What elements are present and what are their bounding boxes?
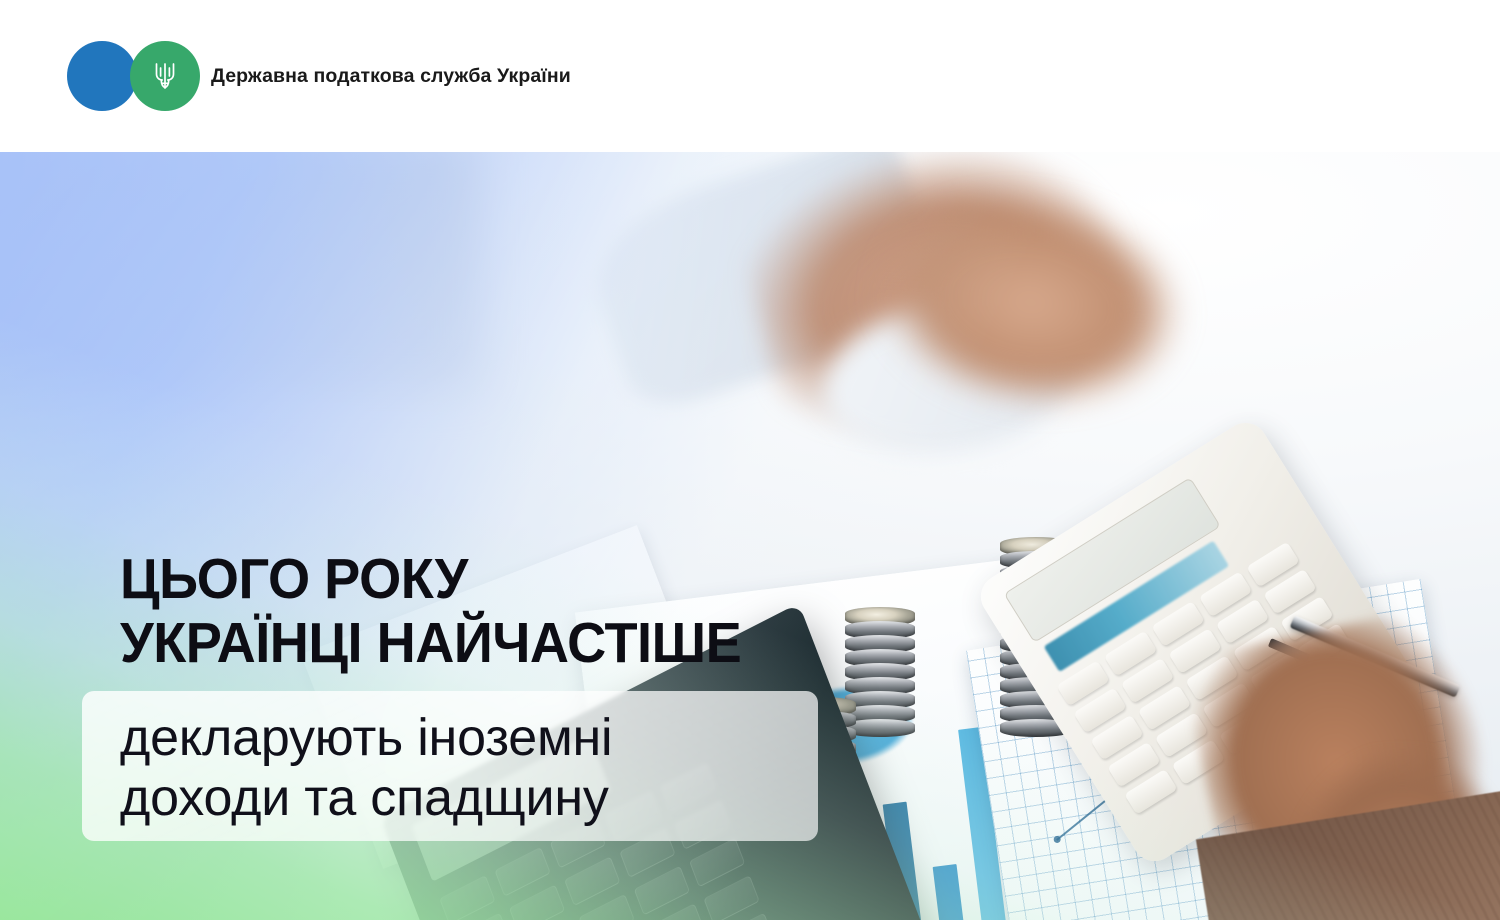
logo-marks bbox=[67, 41, 200, 111]
green-circle-icon bbox=[130, 41, 200, 111]
ukraine-trident-icon bbox=[152, 59, 178, 93]
photo-wall-slab bbox=[0, 152, 480, 392]
logo-text: Державна податкова служба України bbox=[211, 64, 571, 89]
blue-circle-icon bbox=[67, 41, 137, 111]
photo-hand-far-2 bbox=[864, 170, 1226, 463]
banner-subtitle: декларують іноземні доходи та спадщину bbox=[120, 708, 612, 828]
site-header: Державна податкова служба України bbox=[0, 0, 1500, 152]
hero-banner: ЦЬОГО РОКУ УКРАЇНЦІ НАЙЧАСТІШЕ декларуют… bbox=[0, 152, 1500, 920]
organization-logo[interactable]: Державна податкова служба України bbox=[67, 41, 571, 111]
banner-headline: ЦЬОГО РОКУ УКРАЇНЦІ НАЙЧАСТІШЕ bbox=[120, 547, 741, 675]
